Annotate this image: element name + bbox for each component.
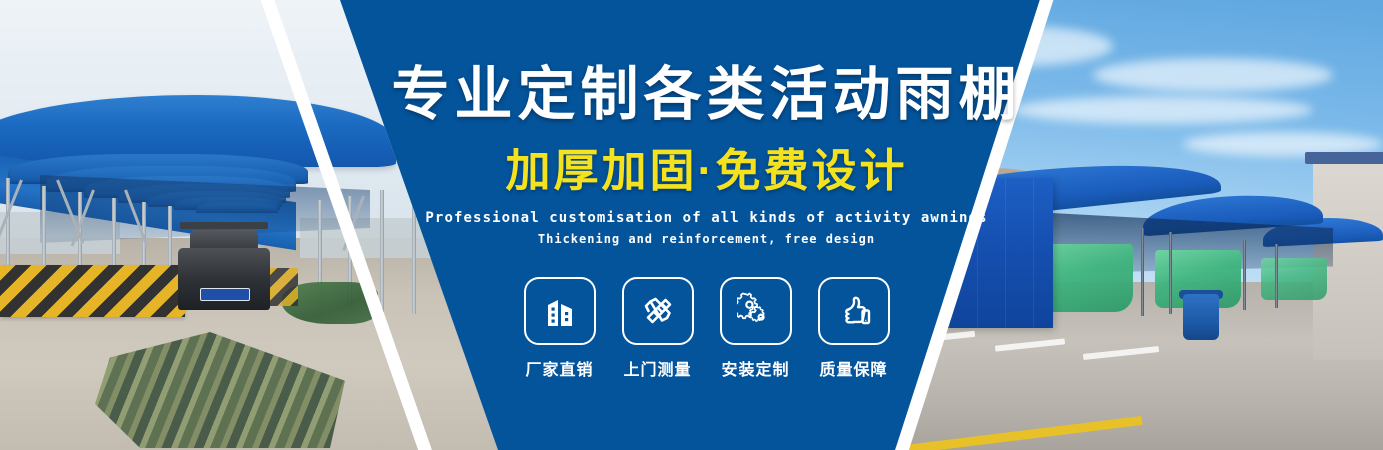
right-photo-building-roof-edge xyxy=(1305,152,1383,164)
feature-icon-box xyxy=(524,277,596,345)
right-photo-blue-awning-front xyxy=(893,178,1053,328)
blue-canopy-tunnel-photo xyxy=(0,0,505,450)
thumbs-up-icon xyxy=(835,292,873,330)
blue-awning-warehouse-photo xyxy=(883,0,1383,450)
left-photo-support-post xyxy=(380,190,384,312)
right-photo-support-post xyxy=(1169,232,1172,314)
feature-item-onsite-measure: 上门测量 xyxy=(622,277,694,380)
right-photo-support-post xyxy=(1141,228,1144,316)
right-photo-wheelie-bin xyxy=(1183,294,1219,340)
left-photo-truck-rack xyxy=(180,222,268,229)
right-photo-cloud xyxy=(1093,58,1333,92)
right-photo-support-post xyxy=(1243,240,1246,310)
left-photo-truck-license-plate xyxy=(200,288,250,301)
feature-icon-box xyxy=(720,277,792,345)
pencil-ruler-measure-icon xyxy=(639,292,677,330)
feature-label: 安装定制 xyxy=(720,356,792,380)
left-photo-support-post xyxy=(412,184,416,314)
left-photo-safety-barrier xyxy=(0,265,185,317)
feature-icon-box xyxy=(622,277,694,345)
right-photo-cloud xyxy=(1013,96,1313,124)
factory-building-icon xyxy=(541,292,579,330)
gears-icon xyxy=(737,292,775,330)
feature-icon-box xyxy=(818,277,890,345)
feature-label: 上门测量 xyxy=(622,356,694,380)
feature-item-quality-guarantee: 质量保障 xyxy=(818,277,890,380)
feature-item-factory-direct: 厂家直销 xyxy=(524,277,596,380)
promotional-banner: 专业定制各类活动雨棚 加厚加固·免费设计 Professional custom… xyxy=(0,0,1383,450)
feature-label: 厂家直销 xyxy=(524,356,596,380)
right-photo-cloud xyxy=(923,26,1113,66)
right-photo-support-post xyxy=(1275,244,1278,308)
right-photo-green-tarp xyxy=(1261,258,1327,300)
feature-label: 质量保障 xyxy=(818,356,890,380)
feature-item-install-custom: 安装定制 xyxy=(720,277,792,380)
